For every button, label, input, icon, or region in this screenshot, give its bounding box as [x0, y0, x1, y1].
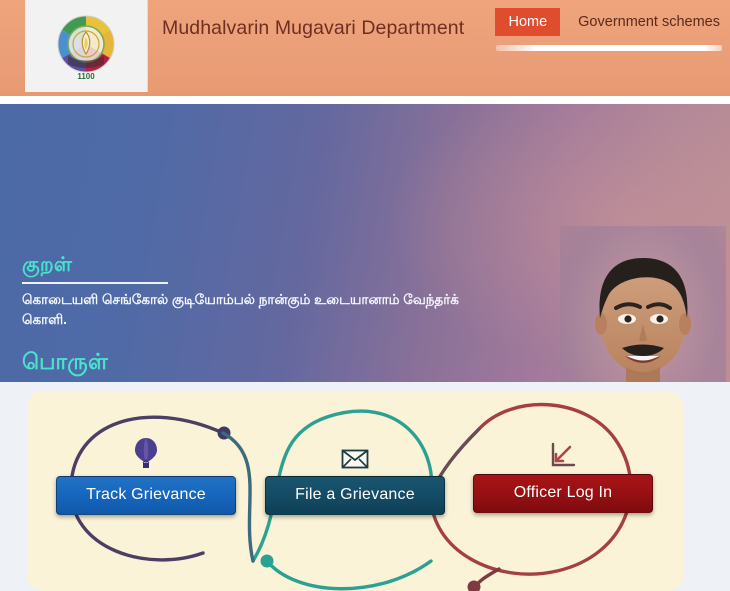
header-bottom-rule: [0, 96, 730, 104]
nav-divider: [496, 45, 722, 51]
hot-air-balloon-icon: [56, 430, 236, 470]
action-tile-track-grievance: Track Grievance: [56, 430, 236, 515]
site-header: 1100 Mudhalvarin Mugavari Department Hom…: [0, 0, 730, 96]
logo-plate[interactable]: 1100: [25, 0, 148, 92]
kural-heading: குறள்: [22, 254, 72, 279]
nav-item-home[interactable]: Home: [495, 8, 560, 36]
action-tile-officer-login: Officer Log In: [473, 428, 653, 513]
kural-underline: [22, 282, 168, 284]
porul-heading: பொருள்: [22, 349, 108, 378]
track-grievance-button[interactable]: Track Grievance: [56, 476, 236, 515]
action-tile-file-grievance: File a Grievance: [265, 430, 445, 515]
chief-minister-portrait: [560, 226, 726, 382]
envelope-icon: [265, 430, 445, 470]
logo-caption: 1100: [77, 72, 95, 81]
officer-login-button[interactable]: Officer Log In: [473, 474, 653, 513]
tamil-nadu-government-emblem-icon: 1100: [50, 10, 122, 82]
kural-text: கொடையளி செங்கோல் குடியோம்பல் நான்கும் உட…: [22, 290, 502, 330]
page-title: Mudhalvarin Mugavari Department: [162, 17, 464, 40]
file-grievance-button[interactable]: File a Grievance: [265, 476, 445, 515]
nav-item-government-schemes[interactable]: Government schemes: [574, 12, 724, 32]
hero-banner: குறள் கொடையளி செங்கோல் குடியோம்பல் நான்க…: [0, 104, 730, 382]
growth-chart-icon: [473, 428, 653, 468]
page-root: 1100 Mudhalvarin Mugavari Department Hom…: [0, 0, 730, 591]
main-nav: Home Government schemes: [495, 8, 724, 36]
